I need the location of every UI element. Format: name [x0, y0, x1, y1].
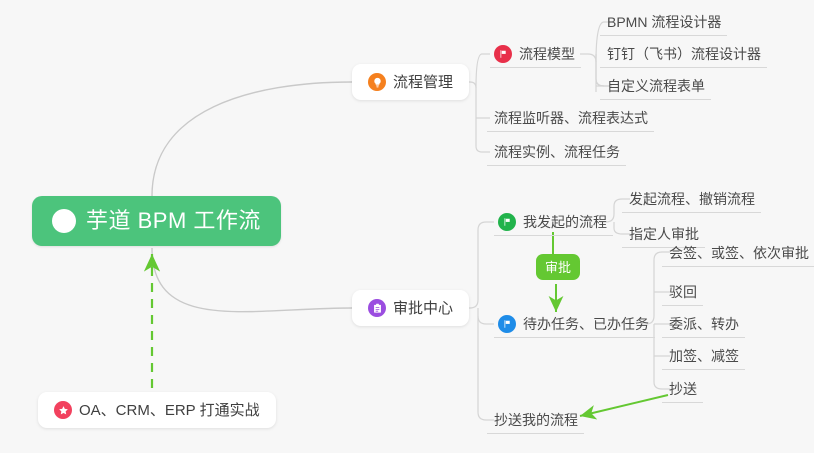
clipboard-icon	[368, 299, 386, 317]
node-cc-to-me-label: 抄送我的流程	[494, 413, 578, 427]
edge-ac-to-cc-mine	[478, 316, 494, 420]
root-node[interactable]: 芋道 BPM 工作流	[32, 196, 281, 246]
node-start-cancel-process[interactable]: 发起流程、撤销流程	[622, 185, 761, 213]
branch-node-approval-center[interactable]: 审批中心	[352, 290, 469, 326]
node-todo-done-tasks-label: 待办任务、已办任务	[523, 317, 649, 331]
node-my-initiated-process[interactable]: 我发起的流程	[494, 208, 613, 236]
node-custom-form[interactable]: 自定义流程表单	[600, 72, 711, 100]
branch-node-process-management-label: 流程管理	[393, 75, 453, 90]
node-delegate-transfer[interactable]: 委派、转办	[662, 310, 745, 338]
flag-icon	[498, 315, 516, 333]
node-add-remove-sign-label: 加签、减签	[669, 349, 739, 363]
edge-ac-to-todo	[478, 308, 494, 324]
edge-root-to-approval-center	[152, 248, 352, 312]
node-custom-form-label: 自定义流程表单	[607, 79, 705, 93]
node-add-remove-sign[interactable]: 加签、减签	[662, 342, 745, 370]
node-cc[interactable]: 抄送	[662, 375, 703, 403]
thumbs-up-icon	[52, 209, 76, 233]
node-dingtalk-designer-label: 钉钉（飞书）流程设计器	[607, 47, 761, 61]
node-cc-label: 抄送	[669, 382, 697, 396]
node-dingtalk-designer[interactable]: 钉钉（飞书）流程设计器	[600, 40, 767, 68]
node-bpmn-designer[interactable]: BPMN 流程设计器	[600, 8, 727, 36]
flag-icon	[494, 45, 512, 63]
node-process-listener-label: 流程监听器、流程表达式	[494, 111, 648, 125]
node-countersign-label: 会签、或签、依次审批	[669, 246, 809, 260]
node-bpmn-designer-label: BPMN 流程设计器	[607, 15, 721, 29]
node-start-cancel-process-label: 发起流程、撤销流程	[629, 192, 755, 206]
node-process-model-label: 流程模型	[519, 47, 575, 61]
floating-node-integration-label: OA、CRM、ERP 打通实战	[79, 403, 260, 418]
mindmap-canvas: 芋道 BPM 工作流 OA、CRM、ERP 打通实战 流程管理	[0, 0, 814, 453]
node-process-instance-label: 流程实例、流程任务	[494, 145, 620, 159]
annotation-arrow-cc	[580, 395, 668, 416]
node-delegate-transfer-label: 委派、转办	[669, 317, 739, 331]
lightbulb-icon	[368, 73, 386, 91]
edge-pm-to-process-model	[476, 54, 490, 88]
flag-icon	[498, 213, 516, 231]
node-process-model[interactable]: 流程模型	[490, 40, 581, 68]
branch-node-process-management[interactable]: 流程管理	[352, 64, 469, 100]
node-process-instance[interactable]: 流程实例、流程任务	[487, 138, 626, 166]
node-reject-label: 驳回	[669, 285, 697, 299]
branch-node-approval-center-label: 审批中心	[393, 301, 453, 316]
root-node-label: 芋道 BPM 工作流	[86, 210, 261, 232]
edge-root-to-process-management	[152, 82, 352, 196]
node-my-initiated-process-label: 我发起的流程	[523, 215, 607, 229]
tag-node-approval[interactable]: 审批	[536, 254, 580, 280]
node-todo-done-tasks[interactable]: 待办任务、已办任务	[494, 310, 655, 338]
node-reject[interactable]: 驳回	[662, 278, 703, 306]
floating-node-integration[interactable]: OA、CRM、ERP 打通实战	[38, 392, 276, 428]
node-cc-to-me[interactable]: 抄送我的流程	[487, 406, 584, 434]
node-process-listener[interactable]: 流程监听器、流程表达式	[487, 104, 654, 132]
star-icon	[54, 401, 72, 419]
node-countersign[interactable]: 会签、或签、依次审批	[662, 239, 814, 267]
tag-node-approval-label: 审批	[545, 261, 571, 274]
